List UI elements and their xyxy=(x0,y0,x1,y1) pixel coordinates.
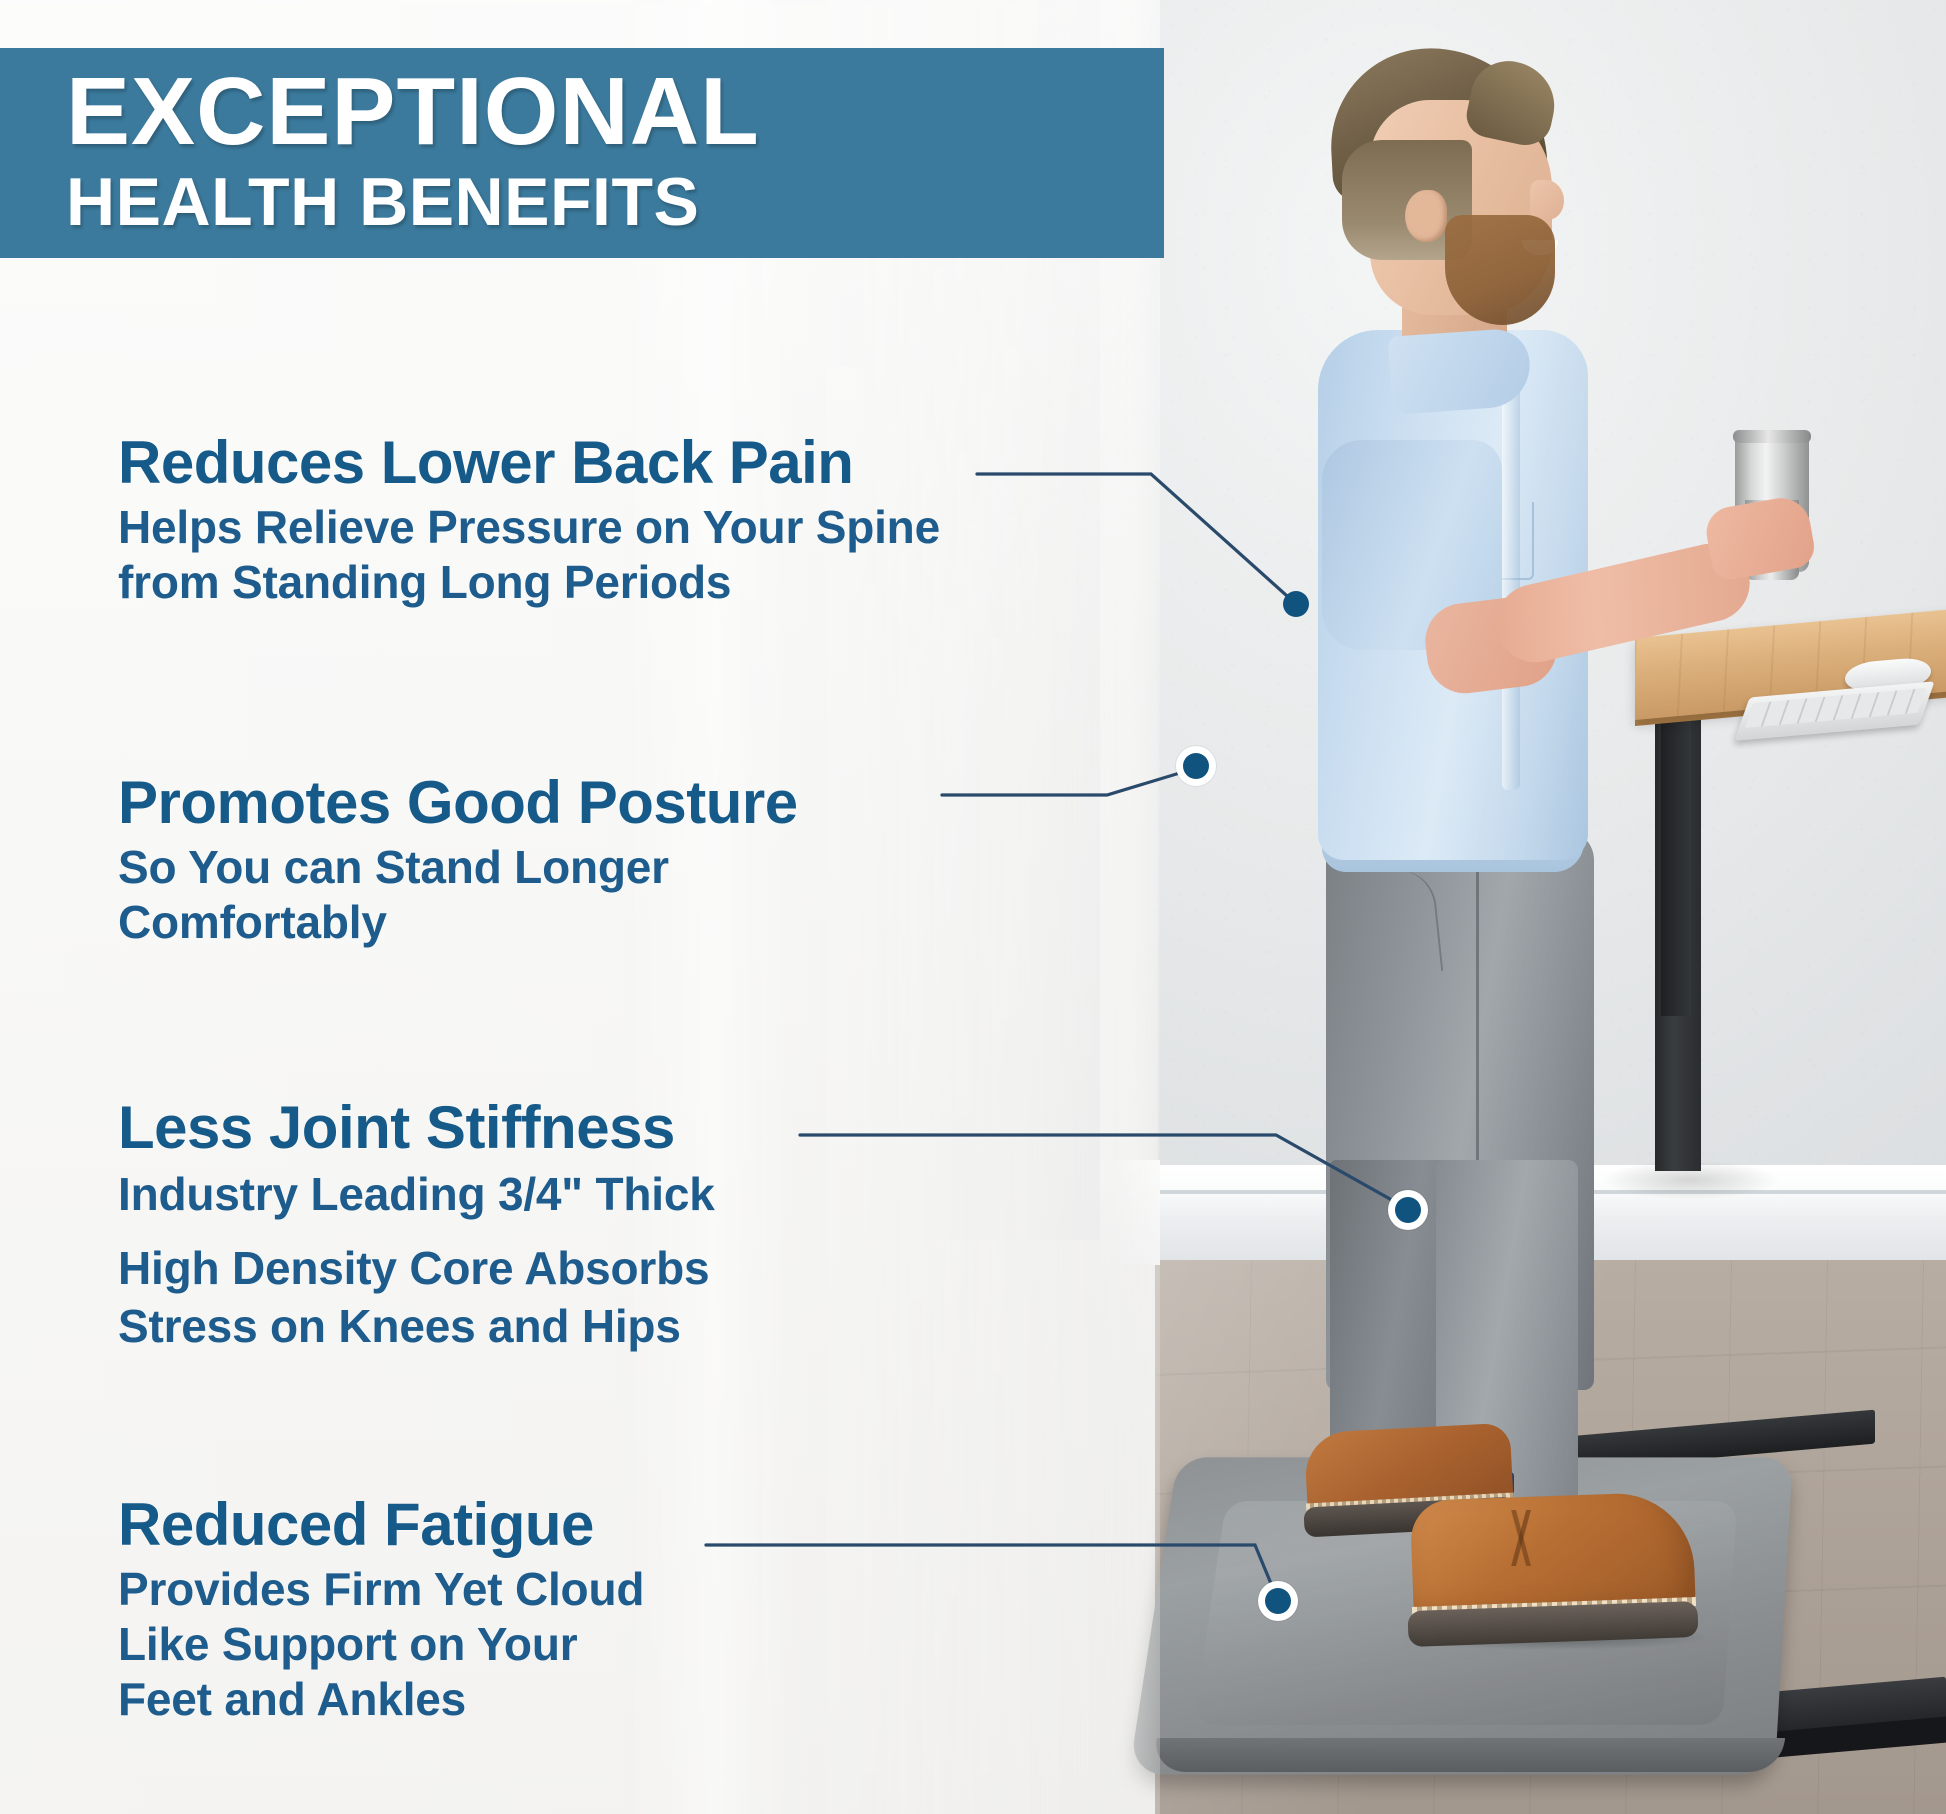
benefit-body-line: So You can Stand Longer xyxy=(118,840,798,895)
benefit-body-line: from Standing Long Periods xyxy=(118,555,940,610)
benefit-title: Less Joint Stiffness xyxy=(118,1095,715,1161)
benefit-body-line: High Density Core Absorbs xyxy=(118,1239,715,1297)
standing-person xyxy=(1230,40,1650,1740)
benefit-block-reduces-lower-back-pain: Reduces Lower Back Pain Helps Relieve Pr… xyxy=(118,430,940,610)
benefit-body-line: Provides Firm Yet Cloud xyxy=(118,1562,644,1617)
benefit-title: Promotes Good Posture xyxy=(118,770,798,836)
leg-back xyxy=(1330,1160,1448,1460)
benefit-body: Helps Relieve Pressure on Your Spine fro… xyxy=(118,500,940,610)
benefit-body-line: Feet and Ankles xyxy=(118,1672,644,1727)
benefit-body: Provides Firm Yet Cloud Like Support on … xyxy=(118,1562,644,1727)
benefit-block-promotes-good-posture: Promotes Good Posture So You can Stand L… xyxy=(118,770,798,950)
benefit-title: Reduces Lower Back Pain xyxy=(118,430,940,496)
benefit-body-line: Comfortably xyxy=(118,895,798,950)
nose xyxy=(1530,180,1564,220)
benefit-block-reduced-fatigue: Reduced Fatigue Provides Firm Yet Cloud … xyxy=(118,1492,644,1727)
benefit-body: Industry Leading 3/4" Thick High Density… xyxy=(118,1165,715,1355)
benefit-body-line: Helps Relieve Pressure on Your Spine xyxy=(118,500,940,555)
benefit-body: So You can Stand Longer Comfortably xyxy=(118,840,798,950)
desk-leg-inner xyxy=(1661,716,1691,1016)
benefit-block-less-joint-stiffness: Less Joint Stiffness Industry Leading 3/… xyxy=(118,1095,715,1355)
shoe-laces xyxy=(1482,1510,1562,1566)
benefit-body-line: Industry Leading 3/4" Thick xyxy=(118,1165,715,1223)
benefit-body-line: Stress on Knees and Hips xyxy=(118,1297,715,1355)
benefit-title: Reduced Fatigue xyxy=(118,1492,644,1558)
mat-bevel-edge xyxy=(1151,1738,1785,1772)
beard xyxy=(1445,215,1555,325)
banner-title-line1: EXCEPTIONAL xyxy=(66,60,1164,164)
ear xyxy=(1405,190,1447,242)
infographic-canvas: EXCEPTIONAL HEALTH BENEFITS Reduces Lowe… xyxy=(0,0,1946,1814)
banner-title-line2: HEALTH BENEFITS xyxy=(66,164,1164,240)
header-banner: EXCEPTIONAL HEALTH BENEFITS xyxy=(0,48,1164,258)
tumbler-lip xyxy=(1733,430,1811,443)
benefit-body-line: Like Support on Your xyxy=(118,1617,644,1672)
shirt-placket xyxy=(1502,360,1520,790)
